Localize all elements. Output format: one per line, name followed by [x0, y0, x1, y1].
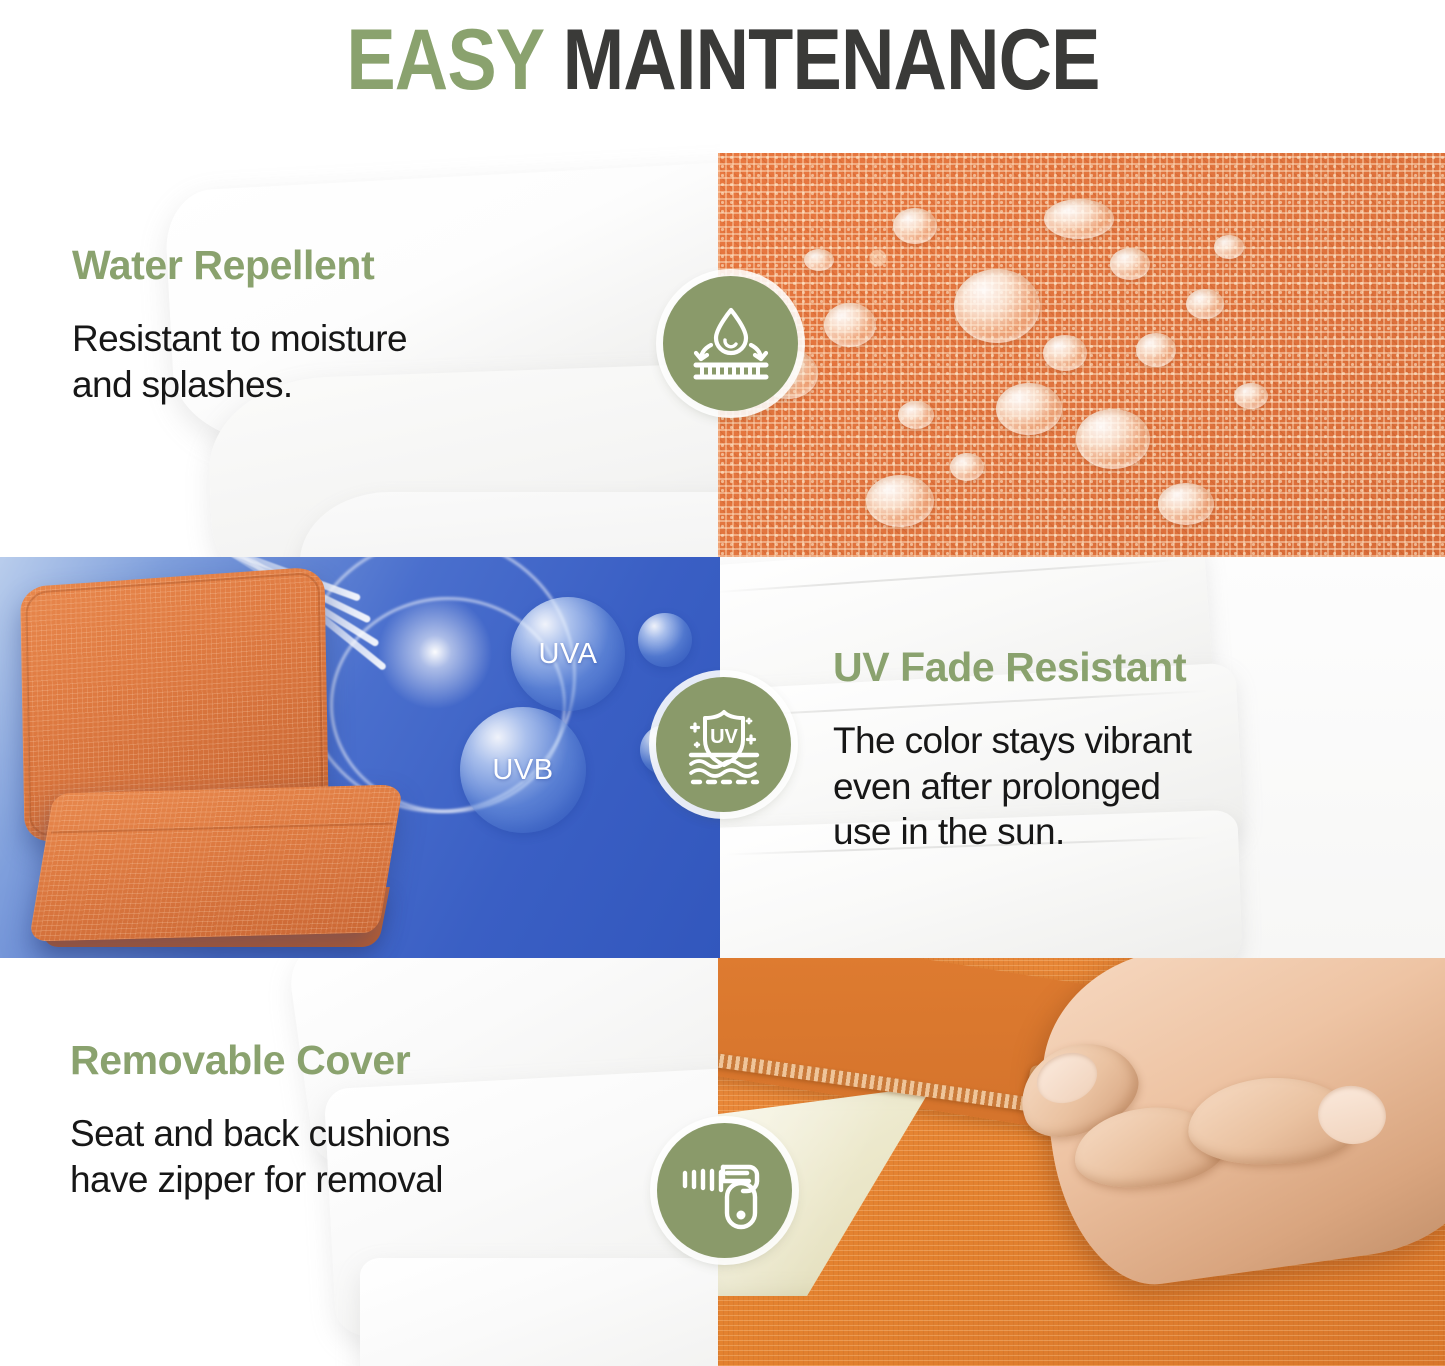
- photo-water-droplets-on-fabric: [718, 153, 1445, 557]
- water-droplet: [804, 249, 834, 271]
- zipper-icon: [657, 1123, 792, 1258]
- bubble-small: [638, 613, 692, 667]
- feature-body-line: use in the sun.: [833, 809, 1191, 855]
- feature-heading-uv-fade-resistant: UV Fade Resistant: [833, 645, 1191, 690]
- uv-shield-icon: UV: [656, 677, 791, 812]
- page-title: EASY MAINTENANCE: [0, 0, 1445, 120]
- feature-body-water-repellent: Resistant to moisture and splashes.: [72, 316, 407, 407]
- water-droplet: [866, 475, 934, 527]
- infographic-page: EASY MAINTENANCE: [0, 0, 1445, 1366]
- feature-body-removable-cover: Seat and back cushions have zipper for r…: [70, 1111, 450, 1202]
- water-droplet: [950, 453, 984, 481]
- water-droplet: [1186, 289, 1224, 319]
- water-droplet: [954, 269, 1040, 343]
- orange-seat-cushion: [29, 784, 404, 941]
- water-droplet: [1110, 248, 1150, 280]
- cushion-seam: [720, 559, 1179, 594]
- feature-body-line: have zipper for removal: [70, 1157, 450, 1203]
- water-droplet: [1044, 199, 1114, 239]
- feature-body-line: The color stays vibrant: [833, 718, 1191, 764]
- feature-body-line: Resistant to moisture: [72, 316, 407, 362]
- bubble-uvb-label: UVB: [492, 754, 553, 787]
- cover-cushion: [360, 1258, 718, 1366]
- feature-text-uv-fade-resistant: UV Fade Resistant The color stays vibran…: [833, 645, 1191, 855]
- water-droplet: [824, 303, 876, 347]
- water-droplet: [898, 401, 934, 429]
- title-easy: EASY: [346, 12, 562, 108]
- water-droplet: [1076, 409, 1150, 469]
- feature-body-line: even after prolonged: [833, 764, 1191, 810]
- water-droplet: [1234, 383, 1268, 409]
- bubble-uvb: UVB: [460, 707, 586, 833]
- feature-text-water-repellent: Water Repellent Resistant to moisture an…: [72, 243, 407, 407]
- cushion-weave: [29, 784, 404, 941]
- water-droplet: [893, 208, 937, 244]
- pillow-bottom: [300, 492, 720, 557]
- feature-body-line: and splashes.: [72, 362, 407, 408]
- water-droplet: [1136, 333, 1176, 367]
- water-droplet: [1214, 235, 1244, 259]
- title-maintenance: MAINTENANCE: [562, 12, 1099, 108]
- water-droplet: [1158, 483, 1214, 525]
- bubble-uva-label: UVA: [539, 638, 598, 671]
- water-repellent-icon: [663, 276, 798, 411]
- water-droplet: [996, 383, 1062, 435]
- feature-body-line: Seat and back cushions: [70, 1111, 450, 1157]
- water-droplet: [1043, 335, 1087, 371]
- feature-text-removable-cover: Removable Cover Seat and back cushions h…: [70, 1038, 450, 1202]
- feature-heading-water-repellent: Water Repellent: [72, 243, 407, 288]
- bubble-uva: UVA: [511, 597, 625, 711]
- svg-text:UV: UV: [710, 726, 738, 748]
- feature-heading-removable-cover: Removable Cover: [70, 1038, 450, 1083]
- photo-hand-opening-zipper: [718, 958, 1445, 1366]
- photo-uv-sunlight-panel: UVA UVB: [0, 557, 720, 958]
- feature-body-uv-fade-resistant: The color stays vibrant even after prolo…: [833, 718, 1191, 855]
- title-text: EASY MAINTENANCE: [346, 17, 1099, 103]
